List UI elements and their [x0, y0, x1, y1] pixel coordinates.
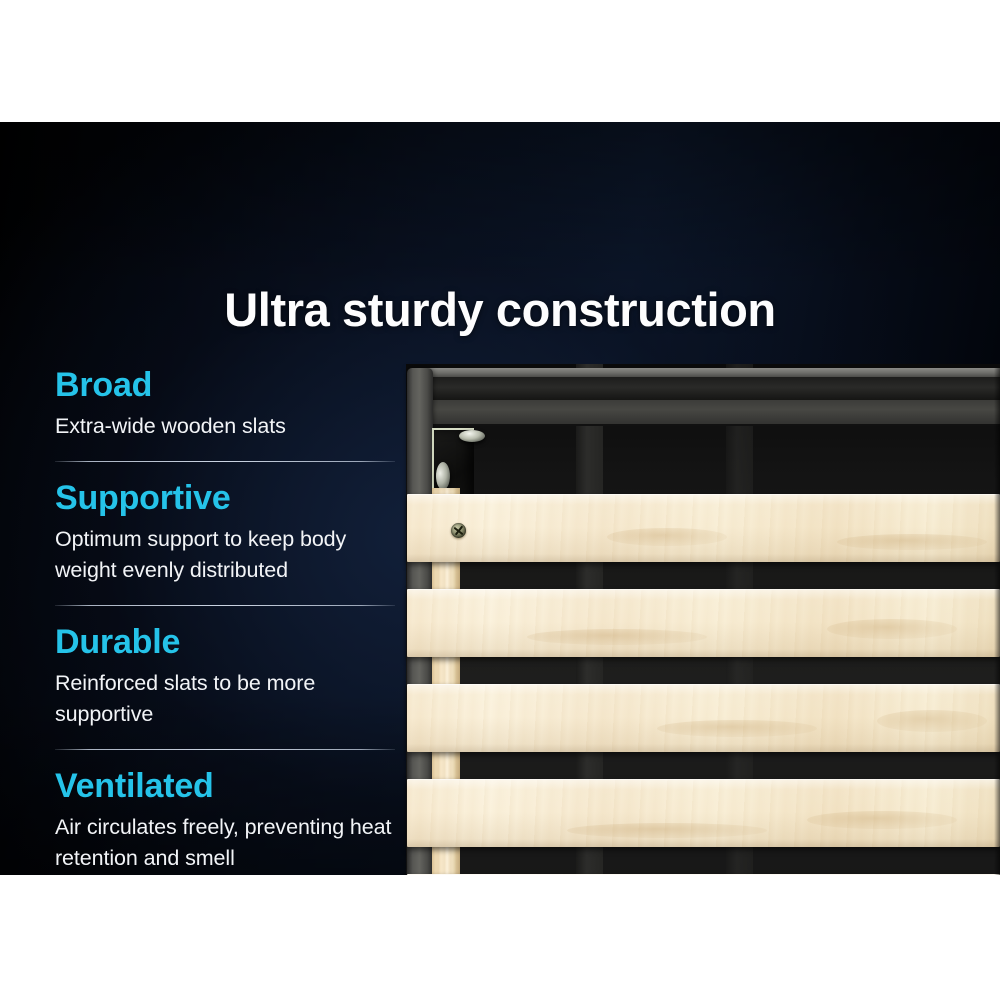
bed-frame-photo — [396, 244, 1000, 875]
feature-description: Optimum support to keep body weight even… — [55, 524, 395, 586]
frame-top-rail-highlight — [426, 368, 1000, 377]
feature-title: Broad — [55, 365, 400, 405]
bracket-bolt-side-icon — [436, 462, 450, 490]
feature-item-broad: Broad Extra-wide wooden slats — [55, 365, 400, 462]
feature-description: Extra-wide wooden slats — [55, 411, 395, 442]
page-title: Ultra sturdy construction — [0, 282, 1000, 338]
feature-title: Durable — [55, 622, 400, 662]
promo-image-canvas: Ultra sturdy construction Broad Extra-wi… — [0, 0, 1000, 1000]
bracket-bolt-top-icon — [459, 430, 485, 442]
feature-list: Broad Extra-wide wooden slats Supportive… — [55, 365, 400, 874]
feature-item-durable: Durable Reinforced slats to be more supp… — [55, 622, 400, 750]
feature-item-supportive: Supportive Optimum support to keep body … — [55, 478, 400, 606]
frame-top-rail-dark — [426, 377, 1000, 400]
feature-title: Supportive — [55, 478, 400, 518]
frame-top-rail-lower — [426, 400, 1000, 426]
wooden-slat — [407, 494, 1000, 562]
wooden-slat — [407, 874, 1000, 875]
feature-item-ventilated: Ventilated Air circulates freely, preven… — [55, 766, 400, 874]
feature-divider — [55, 749, 395, 750]
slat-screw-icon — [451, 523, 466, 538]
feature-banner-panel: Ultra sturdy construction Broad Extra-wi… — [0, 122, 1000, 875]
wooden-slat — [407, 684, 1000, 752]
feature-description: Reinforced slats to be more supportive — [55, 668, 395, 730]
feature-title: Ventilated — [55, 766, 400, 806]
frame-right-edge-shade — [994, 368, 1000, 875]
wooden-slat — [407, 779, 1000, 847]
feature-description: Air circulates freely, preventing heat r… — [55, 812, 395, 874]
wooden-slat — [407, 589, 1000, 657]
feature-divider — [55, 605, 395, 606]
feature-divider — [55, 461, 395, 462]
